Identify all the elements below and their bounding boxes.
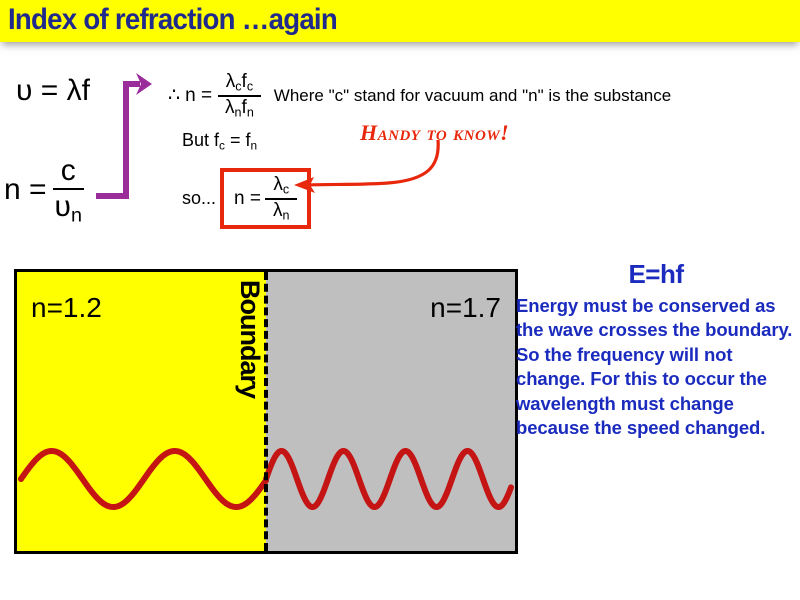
- red-curved-arrow-icon: [288, 140, 518, 202]
- but-line-prefix: But f: [182, 130, 219, 150]
- ratio-denominator: λnfn: [217, 97, 262, 120]
- ratio-numerator: λcfc: [218, 72, 261, 97]
- boxed-denominator: λn: [265, 200, 297, 223]
- explanation-body-text: Energy must be conserved as the wave cro…: [516, 294, 796, 440]
- numerator-f-sub: c: [247, 80, 253, 94]
- lambda-f-ratio-fraction: λcfc λnfn: [217, 72, 262, 119]
- refraction-wave-diagram: Boundary n=1.2 n=1.7: [14, 269, 518, 554]
- denominator-lambda: λ: [225, 97, 235, 118]
- but-line-sub-n: n: [250, 138, 257, 152]
- boundary-label: Boundary: [234, 280, 265, 398]
- therefore-symbol: ∴: [168, 84, 180, 107]
- numerator-lambda: λ: [226, 71, 236, 92]
- wave-path-right: [266, 451, 511, 507]
- medium-left-index-label: n=1.2: [31, 292, 102, 324]
- frequency-equality-line: But fc = fn: [182, 130, 257, 152]
- page-title: Index of refraction …again: [8, 3, 337, 37]
- denominator-f-sub: n: [247, 105, 254, 119]
- index-formula-numerator: c: [53, 155, 84, 190]
- medium-right-index-label: n=1.7: [430, 292, 501, 324]
- refractive-index-formula: n = c υn: [4, 155, 90, 226]
- therefore-line: ∴ n = λcfc λnfn Where "c" stand for vacu…: [168, 72, 671, 119]
- index-denominator-symbol: υ: [55, 190, 71, 223]
- but-line-equals: = f: [225, 130, 251, 150]
- boxed-lhs: n =: [234, 188, 261, 210]
- boxed-denominator-sub: n: [282, 208, 289, 222]
- explanation-panel: E=hf Energy must be conserved as the wav…: [516, 259, 796, 440]
- index-denominator-subscript: n: [71, 204, 82, 226]
- index-formula-fraction: c υn: [47, 155, 90, 226]
- notation-note: Where "c" stand for vacuum and "n" is th…: [274, 86, 671, 106]
- denominator-lambda-sub: n: [235, 105, 242, 119]
- wave-path-left: [21, 451, 266, 507]
- wave-speed-formula: υ = λf: [16, 74, 90, 108]
- index-formula-denominator: υn: [47, 190, 90, 226]
- index-formula-lhs: n =: [4, 173, 47, 207]
- so-prefix: so...: [182, 188, 216, 209]
- therefore-lhs: n =: [185, 85, 212, 107]
- slide-title-bar: Index of refraction …again: [0, 0, 800, 42]
- boxed-numerator-lambda: λ: [273, 174, 283, 195]
- purple-elbow-arrow-icon: [96, 70, 166, 210]
- energy-formula-heading: E=hf: [516, 259, 796, 290]
